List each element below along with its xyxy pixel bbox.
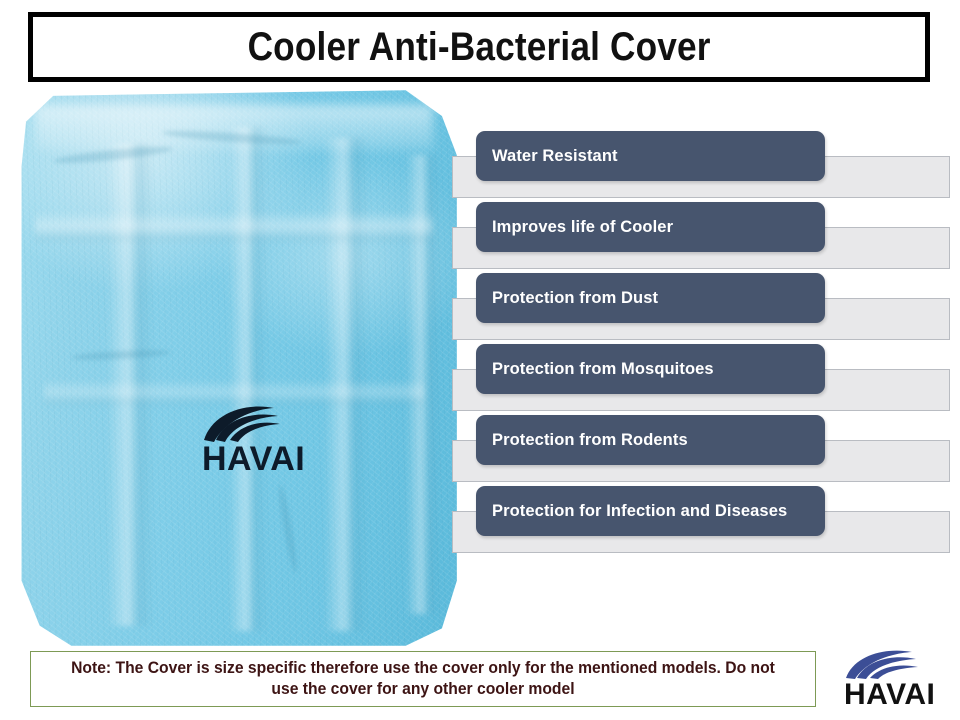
feature-label: Protection from Rodents (476, 431, 688, 450)
svg-text:HAVAI: HAVAI (202, 440, 305, 474)
note-box: Note: The Cover is size specific therefo… (30, 651, 816, 707)
fabric-fold (35, 211, 433, 241)
feature-backing-bar (452, 369, 950, 411)
feature-label: Water Resistant (476, 147, 618, 166)
havai-logo-on-cover: HAVAI (198, 400, 330, 474)
feature-backing-bar (452, 440, 950, 482)
feature-pill[interactable]: Water Resistant (476, 131, 825, 181)
product-image-cooler-cover: HAVAI (8, 88, 460, 648)
feature-backing-bar (452, 511, 950, 553)
havai-logo-footer: HAVAI (842, 646, 954, 708)
feature-pill[interactable]: Protection from Mosquitoes (476, 344, 825, 394)
feature-backing-bar (452, 298, 950, 340)
feature-label: Protection from Dust (476, 289, 658, 308)
feature-backing-bar (452, 156, 950, 198)
feature-label: Protection for Infection and Diseases (476, 502, 787, 521)
feature-pill[interactable]: Protection from Dust (476, 273, 825, 323)
note-text: Note: The Cover is size specific therefo… (60, 658, 786, 699)
svg-text:HAVAI: HAVAI (844, 678, 935, 708)
feature-pill[interactable]: Improves life of Cooler (476, 202, 825, 252)
feature-label: Protection from Mosquitoes (476, 360, 714, 379)
feature-label: Improves life of Cooler (476, 218, 673, 237)
feature-pill[interactable]: Protection for Infection and Diseases (476, 486, 825, 536)
page-title: Cooler Anti-Bacterial Cover (247, 25, 710, 70)
feature-pill[interactable]: Protection from Rodents (476, 415, 825, 465)
page-title-box: Cooler Anti-Bacterial Cover (28, 12, 930, 82)
feature-backing-bar (452, 227, 950, 269)
